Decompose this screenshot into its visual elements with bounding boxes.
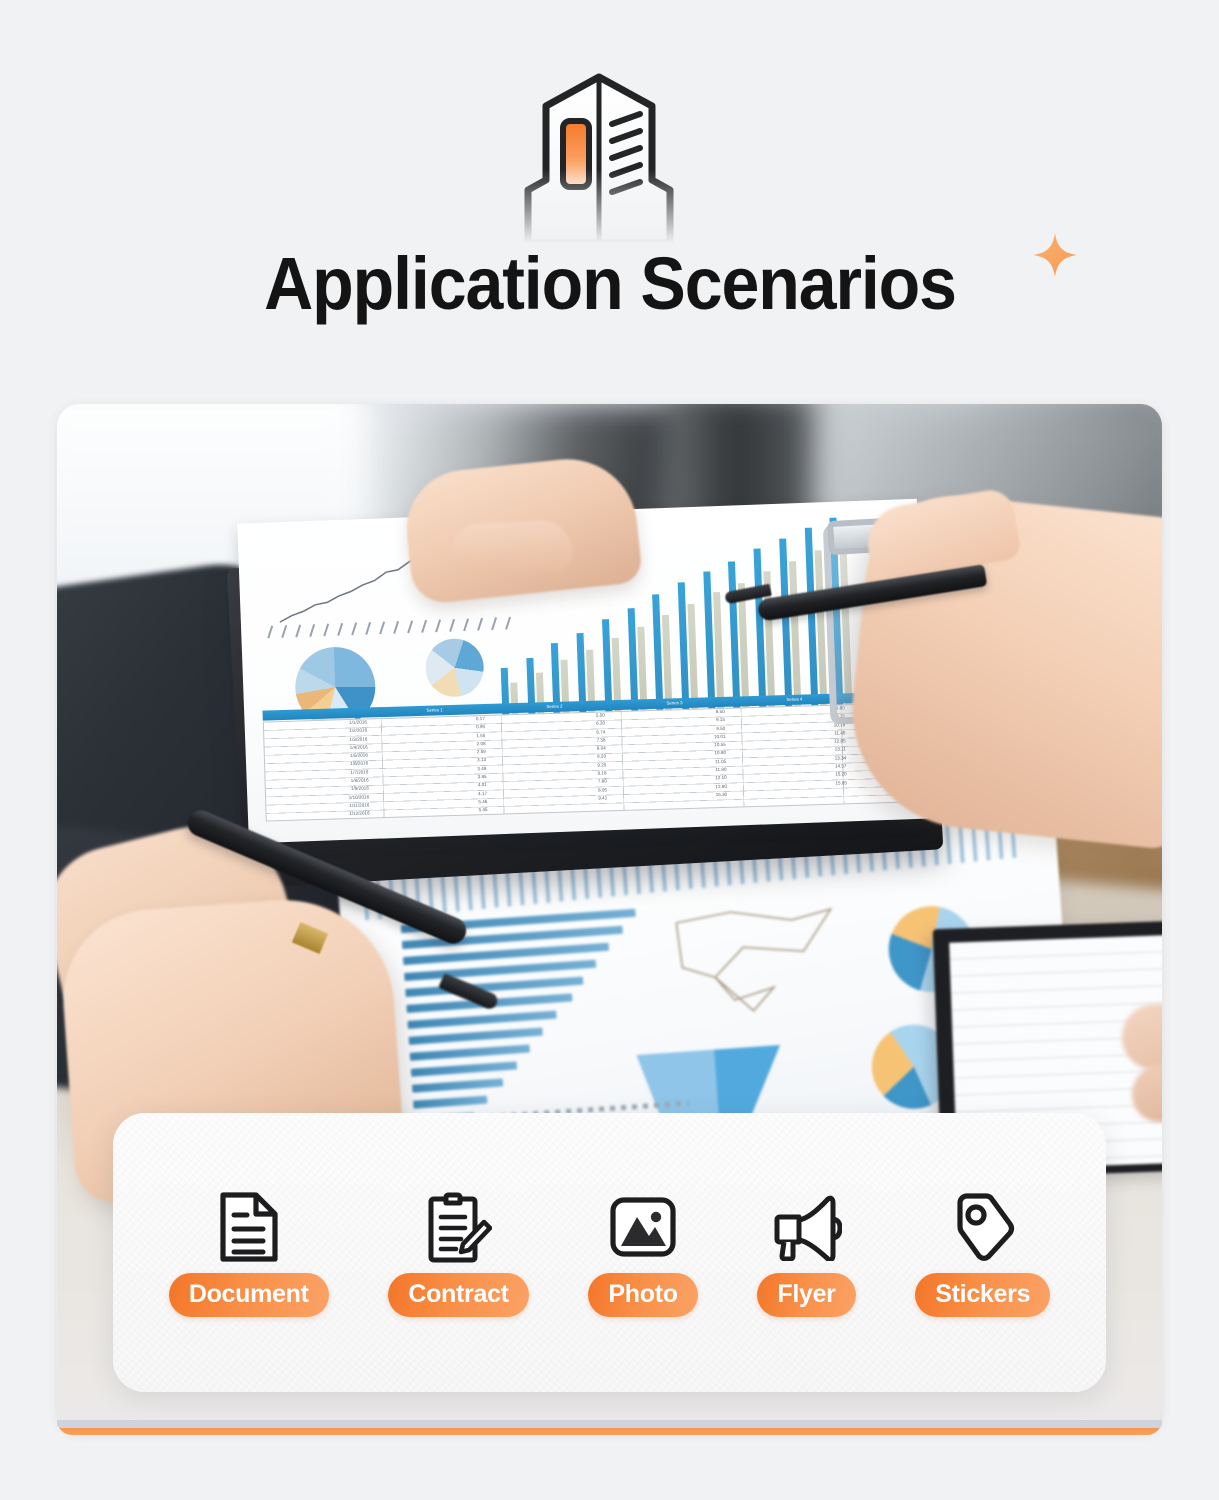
image-icon: [605, 1189, 681, 1265]
photo-accent-bar: [57, 1420, 1162, 1435]
report-table-values: 1/1/20160.175.508.509.8011.701/2/20160.9…: [263, 703, 906, 822]
category-badge-document[interactable]: Document: [169, 1273, 329, 1317]
category-item-photo[interactable]: Photo: [588, 1189, 697, 1317]
price-tag-icon: [945, 1189, 1021, 1265]
category-item-contract[interactable]: Contract: [388, 1189, 528, 1317]
header: Application Scenarios: [0, 0, 1219, 392]
hand-left-thumb: [451, 519, 574, 577]
report-data-table: Series 1Series 2Series 3Series 4Series 5…: [263, 692, 906, 823]
sheet-line-chart: [670, 896, 848, 1028]
category-item-document[interactable]: Document: [169, 1189, 329, 1317]
category-item-stickers[interactable]: Stickers: [915, 1189, 1050, 1317]
category-item-flyer[interactable]: Flyer: [757, 1189, 855, 1317]
category-badge-stickers[interactable]: Stickers: [915, 1273, 1050, 1317]
report-pie-chart-2: [425, 638, 485, 698]
application-categories-card: Document Contract: [113, 1113, 1106, 1392]
category-list: Document Contract: [113, 1113, 1106, 1392]
megaphone-icon: [768, 1189, 844, 1265]
building-icon: [494, 68, 712, 243]
category-badge-photo[interactable]: Photo: [588, 1273, 697, 1317]
category-badge-contract[interactable]: Contract: [388, 1273, 528, 1317]
page-title: Application Scenarios: [264, 236, 956, 332]
clipboard-pencil-icon: [421, 1189, 497, 1265]
sparkle-icon: [1031, 231, 1079, 279]
category-badge-flyer[interactable]: Flyer: [757, 1273, 855, 1317]
document-icon: [211, 1189, 287, 1265]
